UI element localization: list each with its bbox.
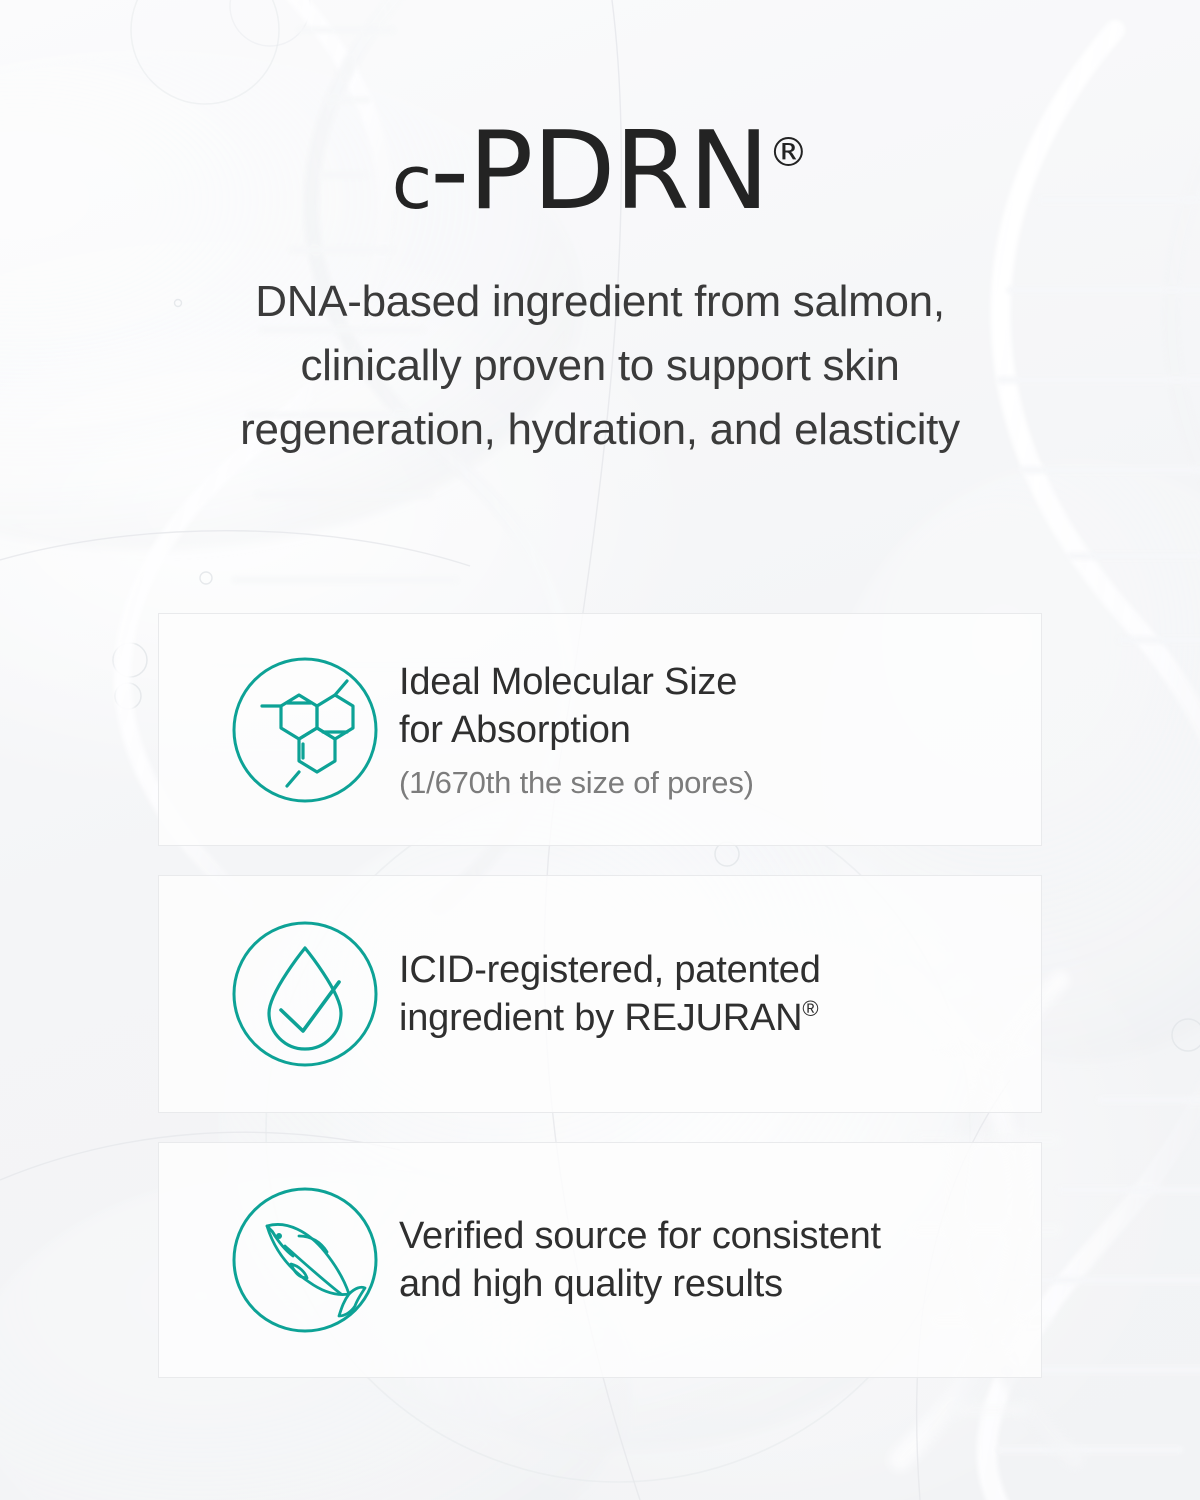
feature-heading: ICID-registered, patented ingredient by …: [399, 946, 1011, 1043]
molecule-icon: [225, 654, 385, 806]
product-infographic-page: c-PDRN® DNA-based ingredient from salmon…: [0, 0, 1200, 1500]
feature-card-text: Ideal Molecular Size for Absorption (1/6…: [399, 658, 1041, 802]
feature-heading-line-1: Verified source for consistent: [399, 1212, 1011, 1260]
feature-card-icid-registered: ICID-registered, patented ingredient by …: [158, 875, 1042, 1113]
feature-card-list: Ideal Molecular Size for Absorption (1/6…: [158, 613, 1042, 1378]
feature-card-molecular-size: Ideal Molecular Size for Absorption (1/6…: [158, 613, 1042, 846]
page-subtitle-line-2: clinically proven to support skin: [0, 334, 1200, 398]
feature-card-text: ICID-registered, patented ingredient by …: [399, 946, 1041, 1043]
feature-heading-line-2: ingredient by REJURAN®: [399, 994, 1011, 1042]
page-subtitle-line-1: DNA-based ingredient from salmon,: [0, 270, 1200, 334]
registered-trademark-icon: ®: [802, 996, 818, 1021]
feature-heading-line-1: ICID-registered, patented: [399, 946, 1011, 994]
droplet-check-icon: [225, 918, 385, 1070]
feature-card-verified-source: Verified source for consistent and high …: [158, 1142, 1042, 1378]
page-subtitle: DNA-based ingredient from salmon, clinic…: [0, 226, 1200, 461]
fish-icon: [225, 1184, 385, 1336]
feature-heading-line-1: Ideal Molecular Size: [399, 658, 1011, 706]
feature-heading: Verified source for consistent and high …: [399, 1212, 1011, 1309]
feature-note: (1/670th the size of pores): [399, 764, 1011, 801]
registered-trademark-icon: ®: [768, 130, 808, 176]
page-title-prefix: c: [392, 140, 431, 226]
page-title-main: -PDRN: [430, 109, 768, 234]
feature-card-text: Verified source for consistent and high …: [399, 1212, 1041, 1309]
page-subtitle-line-3: regeneration, hydration, and elasticity: [0, 398, 1200, 462]
header: c-PDRN® DNA-based ingredient from salmon…: [0, 0, 1200, 461]
feature-heading-line-2: for Absorption: [399, 706, 1011, 754]
feature-heading-line-2: and high quality results: [399, 1260, 1011, 1308]
feature-heading-line-2-text: ingredient by REJURAN: [399, 997, 802, 1039]
feature-heading: Ideal Molecular Size for Absorption: [399, 658, 1011, 755]
page-title: c-PDRN®: [0, 0, 1200, 226]
